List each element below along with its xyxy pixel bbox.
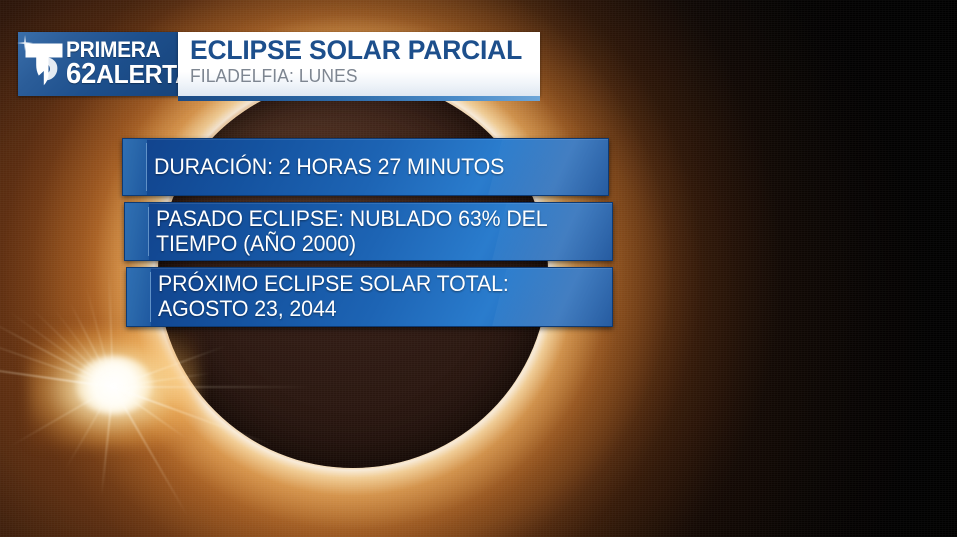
telemundo-t-icon xyxy=(24,41,64,87)
page-title: ECLIPSE SOLAR PARCIAL xyxy=(190,36,533,65)
logo-line-primera: PRIMERA xyxy=(66,40,193,60)
info-bar-text: PASADO ECLIPSE: NUBLADO 63% DEL TIEMPO (… xyxy=(125,207,597,256)
title-panel: ECLIPSE SOLAR PARCIAL FILADELFIA: LUNES xyxy=(178,32,540,96)
info-bar-text: DURACIÓN: 2 HORAS 27 MINUTOS xyxy=(123,155,514,180)
broadcast-graphic: PRIMERA 62ALERTA ECLIPSE SOLAR PARCIAL F… xyxy=(0,0,957,537)
info-bar-proximo-eclipse: PRÓXIMO ECLIPSE SOLAR TOTAL: AGOSTO 23, … xyxy=(126,267,613,327)
info-bar-text: PRÓXIMO ECLIPSE SOLAR TOTAL: AGOSTO 23, … xyxy=(127,272,597,321)
page-subtitle: FILADELFIA: LUNES xyxy=(190,66,530,87)
logo-channel-number: 62 xyxy=(66,58,96,90)
station-logo[interactable]: PRIMERA 62ALERTA xyxy=(18,32,178,96)
title-underline xyxy=(178,96,540,101)
info-bar-duracion: DURACIÓN: 2 HORAS 27 MINUTOS xyxy=(122,138,609,196)
info-bar-pasado-eclipse: PASADO ECLIPSE: NUBLADO 63% DEL TIEMPO (… xyxy=(124,202,613,261)
